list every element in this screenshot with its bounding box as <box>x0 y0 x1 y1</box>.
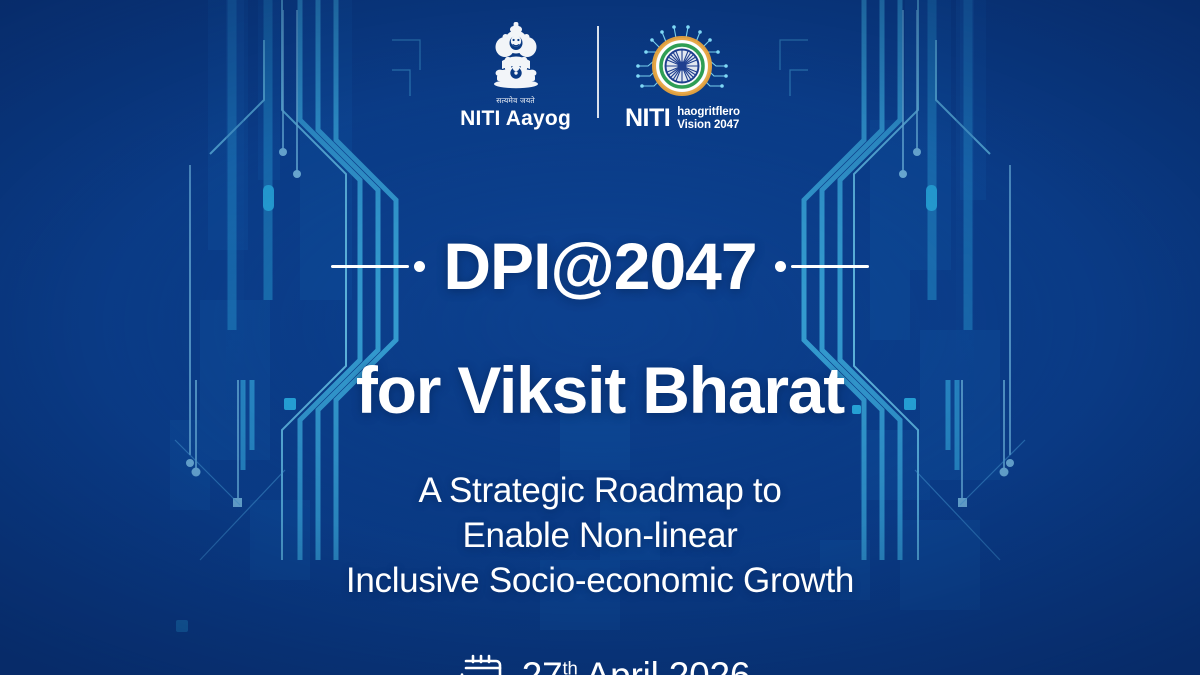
niti-vision-logo: NITI haogritflero Vision 2047 <box>625 13 740 131</box>
poster-content: सत्यमेव जयते NITI Aayog <box>0 0 1200 675</box>
title-decoration-right <box>775 261 869 272</box>
logo-divider <box>597 26 599 118</box>
vision-line-2: Vision 2047 <box>677 119 740 131</box>
ashoka-chakra-circuit-emblem <box>636 24 728 104</box>
event-date: 27th April 2026 <box>522 655 750 675</box>
tagline-line-1: A Strategic Roadmap to <box>346 469 854 514</box>
event-poster: सत्यमेव जयते NITI Aayog <box>0 0 1200 675</box>
event-date-row: 27th April 2026 <box>450 652 750 675</box>
tagline-line-2: Enable Non-linear <box>346 514 854 559</box>
niti-aayog-label: NITI Aayog <box>460 107 571 131</box>
emblem-motto: सत्यमेव जयते <box>496 96 535 106</box>
niti-word: NITI <box>625 106 670 131</box>
tagline-line-3: Inclusive Socio-economic Growth <box>346 559 854 604</box>
tagline: A Strategic Roadmap to Enable Non-linear… <box>346 469 854 603</box>
niti-vision-wordmark: NITI haogritflero Vision 2047 <box>625 106 740 131</box>
title-decoration-left <box>331 261 425 272</box>
deco-bar-left <box>331 265 409 268</box>
ashoka-lion-capital-emblem <box>485 15 547 95</box>
date-month-year: April 2026 <box>586 655 751 675</box>
date-suffix: th <box>563 658 578 675</box>
logo-row: सत्यमेव जयते NITI Aayog <box>460 13 740 131</box>
page-subtitle-main: for Viksit Bharat <box>356 357 844 423</box>
vision-line-1: haogritflero <box>677 106 740 118</box>
vision-lines: haogritflero Vision 2047 <box>677 106 740 131</box>
deco-dot-right <box>775 261 786 272</box>
title-row: DPI@2047 <box>0 189 1200 343</box>
deco-dot-left <box>414 261 425 272</box>
deco-bar-right <box>791 265 869 268</box>
page-title: DPI@2047 <box>443 233 756 299</box>
niti-aayog-logo: सत्यमेव जयते NITI Aayog <box>460 13 571 131</box>
date-day: 27 <box>522 655 563 675</box>
calendar-gear-link-icon <box>450 652 506 675</box>
